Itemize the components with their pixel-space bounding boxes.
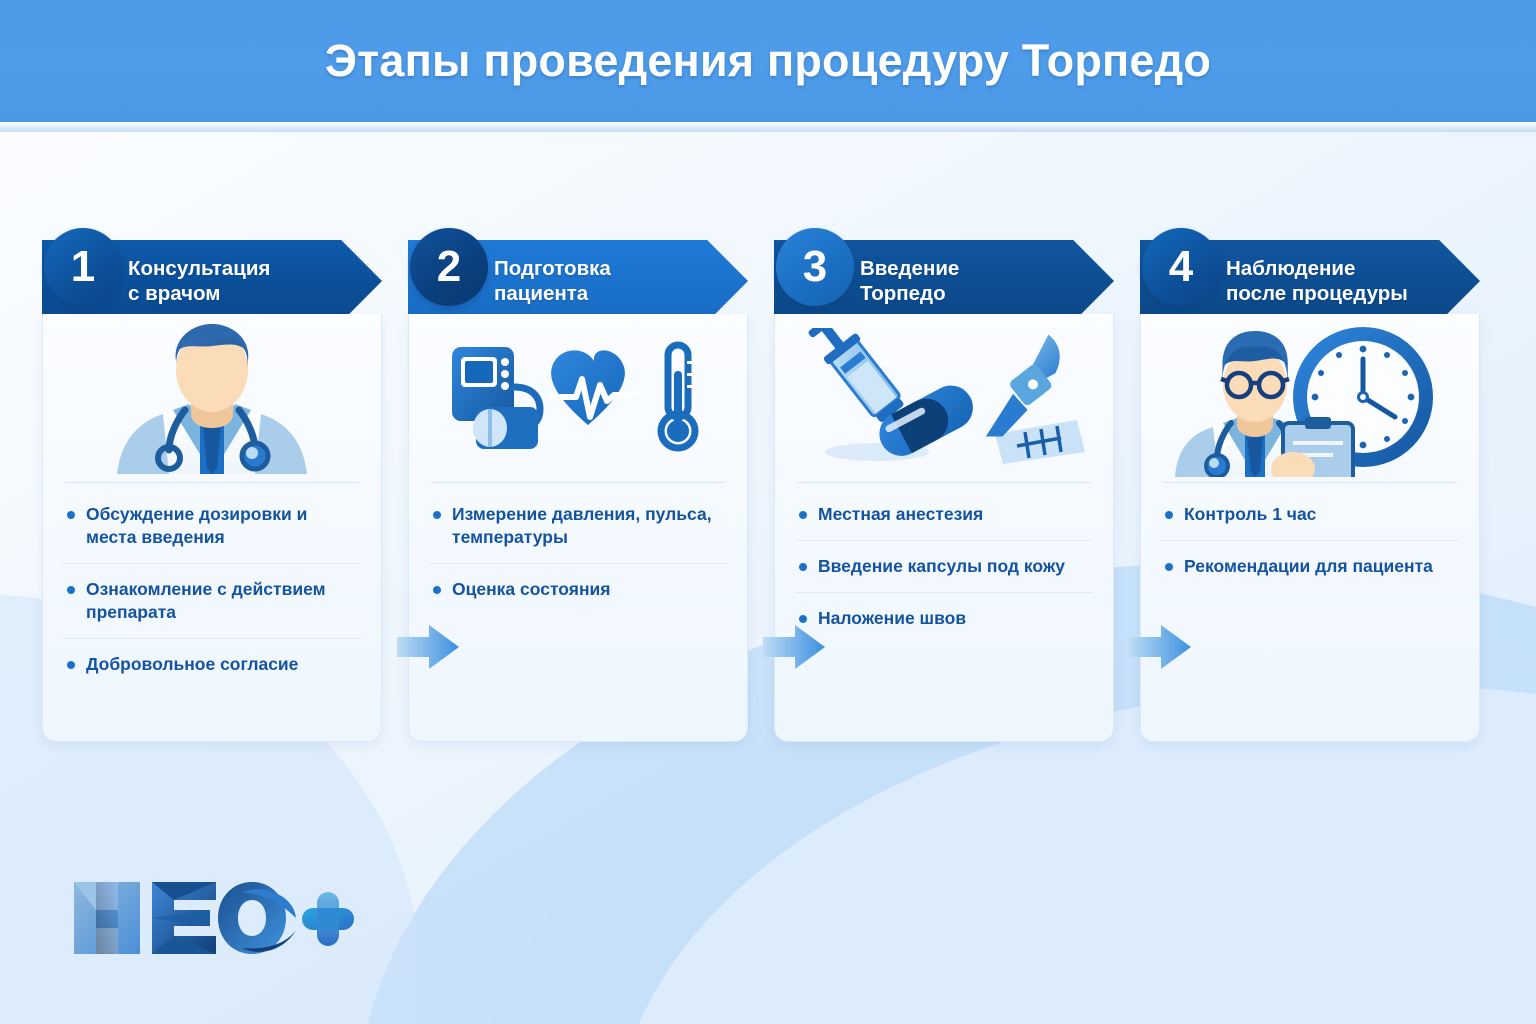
- step-card-2[interactable]: Подготовка пациента 2: [408, 228, 748, 743]
- bullet-text: Ознакомление с действием препарата: [86, 578, 359, 624]
- list-item: Ознакомление с действием препарата: [63, 564, 361, 639]
- bullet-text: Добровольное согласие: [86, 653, 298, 676]
- bullet-text: Наложение швов: [818, 607, 966, 630]
- bullet-dot-icon: [799, 563, 807, 571]
- step-3-card-body: Местная анестезия Введение капсулы под к…: [774, 314, 1114, 742]
- bullet-dot-icon: [67, 586, 75, 594]
- step-1-bullet-list: Обсуждение дозировки и места введения Оз…: [43, 483, 381, 700]
- step-4-title: Наблюдение после процедуры: [1226, 256, 1408, 307]
- step-card-1[interactable]: Консультация с врачом 1: [42, 228, 382, 743]
- bullet-dot-icon: [799, 511, 807, 519]
- list-item: Обсуждение дозировки и места введения: [63, 489, 361, 564]
- step-3-bullet-list: Местная анестезия Введение капсулы под к…: [775, 483, 1113, 654]
- arrow-step-2-to-3: [763, 623, 825, 671]
- list-item: Добровольное согласие: [63, 639, 361, 690]
- bullet-dot-icon: [433, 511, 441, 519]
- bullet-text: Контроль 1 час: [1184, 503, 1316, 526]
- page-header: Этапы проведения процедуру Торпедо: [0, 0, 1536, 122]
- step-4-bullet-list: Контроль 1 час Рекомендации для пациента: [1141, 483, 1479, 602]
- bullet-dot-icon: [1165, 511, 1173, 519]
- arrow-step-3-to-4: [1129, 623, 1191, 671]
- step-4-number-badge: 4: [1142, 228, 1220, 306]
- bullet-text: Рекомендации для пациента: [1184, 555, 1433, 578]
- step-1-card-body: Обсуждение дозировки и места введения Оз…: [42, 314, 382, 742]
- bullet-dot-icon: [799, 615, 807, 623]
- step-2-bullet-list: Измерение давления, пульса, температуры …: [409, 483, 747, 625]
- vitals-monitor-heart-thermometer-icon: [409, 314, 747, 482]
- step-card-4[interactable]: Наблюдение после процедуры 4: [1140, 228, 1480, 743]
- step-4-card-body: Контроль 1 час Рекомендации для пациента: [1140, 314, 1480, 742]
- list-item: Контроль 1 час: [1161, 489, 1459, 541]
- step-2-title: Подготовка пациента: [494, 256, 611, 307]
- bullet-dot-icon: [67, 511, 75, 519]
- list-item: Измерение давления, пульса, температуры: [429, 489, 727, 564]
- page-title: Этапы проведения процедуру Торпедо: [325, 35, 1211, 87]
- bullet-text: Введение капсулы под кожу: [818, 555, 1065, 578]
- step-1-title: Консультация с врачом: [128, 256, 270, 307]
- syringe-capsule-scalpel-sutures-icon: [775, 314, 1113, 482]
- header-divider: [0, 122, 1536, 132]
- bullet-dot-icon: [1165, 563, 1173, 571]
- bullet-dot-icon: [433, 586, 441, 594]
- step-card-3[interactable]: Введение Торпедо 3: [774, 228, 1114, 743]
- bullet-text: Обсуждение дозировки и места введения: [86, 503, 359, 549]
- list-item: Местная анестезия: [795, 489, 1093, 541]
- doctor-clipboard-clock-icon: [1141, 314, 1479, 482]
- step-1-number-badge: 1: [44, 228, 122, 306]
- step-3-title: Введение Торпедо: [860, 256, 959, 307]
- arrow-step-1-to-2: [397, 623, 459, 671]
- bullet-text: Оценка состояния: [452, 578, 611, 601]
- steps-container: Консультация с врачом 1: [42, 228, 1494, 743]
- step-3-number-badge: 3: [776, 228, 854, 306]
- list-item: Наложение швов: [795, 593, 1093, 644]
- neo-plus-logo[interactable]: [66, 874, 356, 962]
- bullet-text: Местная анестезия: [818, 503, 983, 526]
- bullet-dot-icon: [67, 661, 75, 669]
- step-2-number-badge: 2: [410, 228, 488, 306]
- bullet-text: Измерение давления, пульса, температуры: [452, 503, 725, 549]
- list-item: Введение капсулы под кожу: [795, 541, 1093, 593]
- doctor-stethoscope-icon: [43, 314, 381, 482]
- list-item: Оценка состояния: [429, 564, 727, 615]
- step-2-card-body: Измерение давления, пульса, температуры …: [408, 314, 748, 742]
- list-item: Рекомендации для пациента: [1161, 541, 1459, 592]
